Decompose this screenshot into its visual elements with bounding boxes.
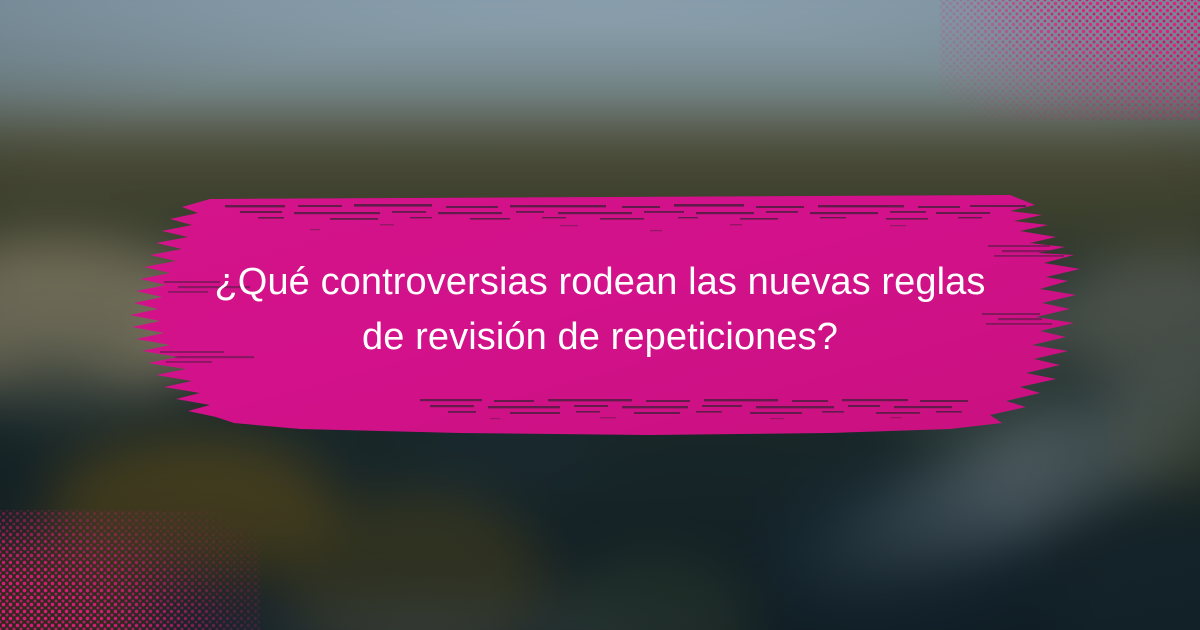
halftone-dots-top-right-icon [940,0,1200,120]
social-share-card: ¿Qué controversias rodean las nuevas reg… [0,0,1200,630]
page-title: ¿Qué controversias rodean las nuevas reg… [150,196,1050,428]
halftone-dots-bottom-left-icon [0,510,260,630]
